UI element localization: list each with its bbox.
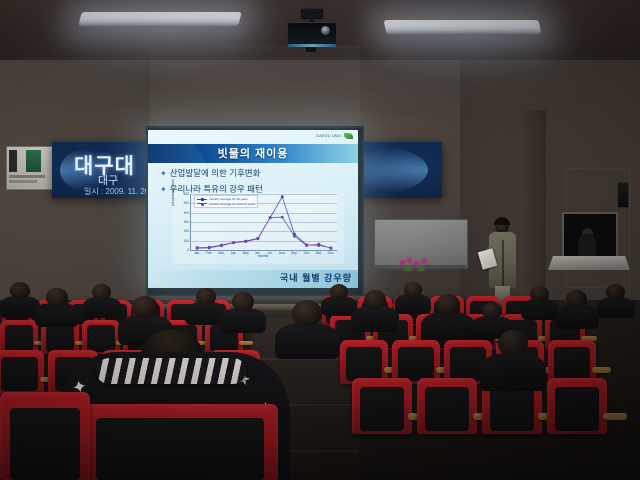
audience-head — [292, 300, 322, 326]
foreground-striped-scarf — [96, 358, 246, 384]
legend-marker-icon — [197, 203, 207, 204]
foreground-seat-left — [0, 392, 90, 480]
audience-head — [436, 294, 460, 315]
chart-y-tick-label: 400 — [184, 211, 189, 215]
seat-cushion — [1, 357, 38, 391]
projector-lens-icon — [321, 26, 330, 35]
chart-data-point — [330, 247, 333, 250]
legend-marker-icon — [197, 199, 207, 200]
legend-label: monthly average for recent 5 years — [209, 202, 255, 206]
seat-cushion — [425, 387, 469, 431]
legend-item: monthly average for recent 5 years — [197, 202, 255, 207]
seat-armrest — [592, 367, 611, 373]
projector-foot — [306, 47, 316, 52]
chart-data-point — [220, 244, 223, 247]
seat-cushion — [360, 387, 404, 431]
seat-cushion — [346, 347, 382, 381]
chart-y-tick-label: 100 — [184, 239, 189, 243]
slide-title: 빗물의 재이용 — [148, 145, 358, 163]
slide-logo: DAEGU UNIV. — [316, 133, 353, 139]
chart-data-point — [281, 196, 284, 199]
auditorium-seat — [82, 320, 120, 354]
audience-shoulders — [555, 305, 599, 329]
audience-shoulders — [422, 312, 474, 340]
seat-cushion — [555, 387, 599, 431]
legend-label: monthly average for 30 years — [209, 197, 248, 201]
auditorium-seat — [417, 378, 477, 434]
seat-armrest — [239, 341, 253, 345]
flower-icon — [422, 259, 427, 264]
list-item: ✦산업발달에 의한 기후변화 — [160, 167, 350, 179]
notice-panel-dark — [9, 150, 17, 172]
ceiling-projector — [288, 8, 336, 52]
notice-text-line-2 — [9, 180, 37, 183]
chart-data-point — [196, 247, 199, 250]
chart-data-point — [257, 237, 260, 240]
foliage-icon — [417, 266, 425, 271]
fluorescent-light-right — [384, 20, 542, 34]
diamond-bullet-icon: ✦ — [160, 185, 167, 194]
audience-head — [482, 302, 502, 319]
audience-head — [530, 286, 549, 302]
audience-head — [566, 290, 587, 308]
seat-cushion — [554, 347, 590, 381]
seat-cushion — [46, 325, 74, 352]
screenshot-root: 대구대 발표회 대구 발표회 일시 : 2009. 11. 20(금) : 대구… — [0, 0, 640, 480]
leaf-icon — [344, 133, 353, 139]
seat-cushion — [490, 387, 534, 431]
bullet-text: 산업발달에 의한 기후변화 — [170, 168, 261, 178]
chart-y-tick-label: 200 — [184, 229, 189, 233]
chart-y-tick-label: 300 — [184, 220, 189, 224]
flower-icon — [400, 260, 405, 265]
seat-cushion — [96, 418, 264, 480]
audience-head — [196, 288, 216, 305]
audience-head — [10, 282, 30, 299]
audience-head — [132, 296, 158, 318]
audience-shoulders — [35, 303, 79, 327]
presenter-coat-seam — [502, 240, 504, 286]
flower-arrangement — [398, 258, 432, 274]
audience-head — [330, 284, 348, 299]
seat-cushion — [5, 325, 33, 352]
projection-screen: DAEGU UNIV. 빗물의 재이용 ✦산업발달에 의한 기후변화 ✦우리나라… — [148, 130, 358, 288]
chart-data-point — [208, 247, 211, 250]
auditorium-seat — [352, 378, 412, 434]
foreground-seat — [82, 404, 278, 480]
chart-x-axis-label: months — [190, 254, 336, 258]
audience-shoulders — [220, 308, 266, 333]
flower-icon — [407, 258, 412, 263]
audience-head — [404, 282, 422, 297]
chart-line-diamond — [197, 217, 331, 248]
audience-shoulders — [597, 297, 635, 318]
right-wall-column — [520, 110, 546, 310]
chart-y-axis-label: precipitation (mm) — [171, 162, 175, 206]
chart-data-point — [293, 235, 296, 238]
wall-speaker — [617, 182, 629, 208]
chart-y-tick-label: 600 — [184, 192, 189, 196]
presenter-hair — [494, 217, 510, 225]
chart-data-point — [232, 241, 235, 244]
audience-shoulders — [0, 296, 40, 318]
audience-head — [498, 330, 528, 356]
chart-data-point — [317, 243, 320, 246]
chart-data-point — [244, 240, 247, 243]
diamond-bullet-icon: ✦ — [160, 169, 167, 178]
slide-caption: 국내 월별 강우량 — [280, 271, 352, 284]
audience-head — [364, 290, 386, 309]
booth-operator-body — [578, 234, 596, 258]
chart-y-tick-label: 0 — [187, 248, 189, 252]
seat-cushion — [10, 408, 80, 480]
precipitation-chart: precipitation (mm) 0100200300400500600Ja… — [172, 192, 344, 264]
audience-head — [232, 292, 254, 311]
chart-data-point — [305, 244, 308, 247]
audience-head — [92, 284, 111, 300]
audience-shoulders — [521, 299, 559, 320]
notice-panel-green — [26, 150, 41, 172]
auditorium-seat — [0, 320, 38, 354]
audience-shoulders — [275, 323, 339, 359]
audience-shoulders — [351, 306, 399, 332]
audience-head — [46, 288, 68, 306]
auditorium-seat — [547, 378, 607, 434]
slide-logo-text: DAEGU UNIV. — [316, 133, 342, 138]
chart-legend: monthly average for 30 years monthly ave… — [194, 195, 258, 208]
seat-armrest — [603, 413, 627, 420]
chart-data-point — [269, 216, 272, 219]
seat-cushion — [398, 347, 434, 381]
foliage-icon — [404, 266, 412, 271]
audience-shoulders — [480, 353, 546, 391]
auditorium-seat — [0, 350, 44, 394]
fluorescent-light-left — [78, 12, 241, 26]
seat-cushion — [87, 325, 115, 352]
audience-shoulders — [395, 294, 431, 314]
booth-desk — [548, 256, 630, 270]
chart-y-tick-label: 500 — [184, 201, 189, 205]
chart-data-point — [281, 216, 284, 219]
ceiling-seam — [0, 58, 640, 59]
audience-head — [606, 284, 625, 300]
audience-shoulders — [83, 297, 121, 318]
notice-text-line-1 — [9, 175, 45, 178]
